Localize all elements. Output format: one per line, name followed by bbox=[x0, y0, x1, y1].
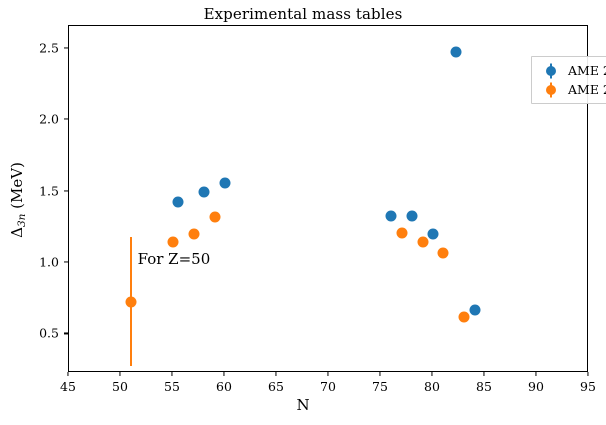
legend-marker-icon bbox=[538, 80, 564, 99]
data-point bbox=[209, 212, 220, 223]
data-point bbox=[396, 228, 407, 239]
data-point bbox=[199, 186, 210, 197]
y-axis-tick bbox=[64, 261, 68, 262]
x-axis-tick bbox=[223, 372, 224, 376]
x-axis-tick-label: 80 bbox=[424, 379, 440, 394]
x-axis-tick-label: 75 bbox=[372, 379, 388, 394]
x-axis-tick bbox=[171, 372, 172, 376]
chart-figure: Experimental mass tables For Z=50 AME 20… bbox=[0, 0, 606, 425]
legend-item-ame2020-blue[interactable]: AME 2020 bbox=[538, 61, 606, 80]
y-axis-tick bbox=[64, 190, 68, 191]
data-layer bbox=[69, 26, 587, 371]
y-axis-label-symbol: Δ bbox=[8, 227, 26, 238]
x-axis-tick-label: 45 bbox=[60, 379, 76, 394]
x-axis-tick-label: 55 bbox=[164, 379, 180, 394]
data-point bbox=[428, 229, 439, 240]
y-axis-tick bbox=[64, 333, 68, 334]
data-point bbox=[407, 210, 418, 221]
chart-legend[interactable]: AME 2020 AME 2020 bbox=[531, 56, 606, 104]
legend-item-ame2020-orange[interactable]: AME 2020 bbox=[538, 80, 606, 99]
x-axis-tick bbox=[379, 372, 380, 376]
data-point bbox=[220, 178, 231, 189]
plot-area: For Z=50 AME 2020 AME 2020 bbox=[68, 25, 588, 372]
x-axis-tick bbox=[431, 372, 432, 376]
y-axis-tick bbox=[64, 47, 68, 48]
y-axis-tick-label: 2.0 bbox=[28, 112, 59, 127]
data-point bbox=[450, 46, 461, 57]
x-axis-tick-label: 95 bbox=[580, 379, 596, 394]
y-axis-tick-label: 1.0 bbox=[28, 255, 59, 270]
y-axis-tick bbox=[64, 119, 68, 120]
y-axis-label-subscript: 3n bbox=[16, 214, 28, 227]
data-point bbox=[173, 196, 184, 207]
legend-marker-icon bbox=[538, 61, 564, 80]
x-axis-tick bbox=[483, 372, 484, 376]
x-axis-tick bbox=[535, 372, 536, 376]
x-axis-label: N bbox=[0, 396, 606, 414]
legend-label: AME 2020 bbox=[564, 63, 606, 78]
y-axis-label-unit: (MeV) bbox=[8, 162, 26, 214]
x-axis-tick bbox=[327, 372, 328, 376]
x-axis-tick-label: 60 bbox=[216, 379, 232, 394]
y-axis-tick-label: 0.5 bbox=[28, 326, 59, 341]
data-point bbox=[188, 229, 199, 240]
x-axis-tick-label: 90 bbox=[528, 379, 544, 394]
x-axis-tick bbox=[67, 372, 68, 376]
data-point bbox=[417, 236, 428, 247]
x-axis-tick bbox=[119, 372, 120, 376]
data-point bbox=[469, 305, 480, 316]
x-axis-tick-label: 50 bbox=[112, 379, 128, 394]
data-point bbox=[459, 312, 470, 323]
x-axis-tick-label: 65 bbox=[268, 379, 284, 394]
x-axis-tick bbox=[587, 372, 588, 376]
legend-label: AME 2020 bbox=[564, 82, 606, 97]
y-axis-tick-label: 2.5 bbox=[28, 40, 59, 55]
x-axis-tick-label: 70 bbox=[320, 379, 336, 394]
x-axis-tick bbox=[275, 372, 276, 376]
y-axis-tick-label: 1.5 bbox=[28, 183, 59, 198]
data-point bbox=[168, 236, 179, 247]
data-point bbox=[126, 296, 137, 307]
chart-title: Experimental mass tables bbox=[0, 5, 606, 23]
y-axis-label: Δ3n (MeV) bbox=[8, 120, 28, 280]
annotation-for-z50: For Z=50 bbox=[138, 250, 211, 268]
data-point bbox=[386, 210, 397, 221]
x-axis-tick-label: 85 bbox=[476, 379, 492, 394]
data-point bbox=[438, 248, 449, 259]
